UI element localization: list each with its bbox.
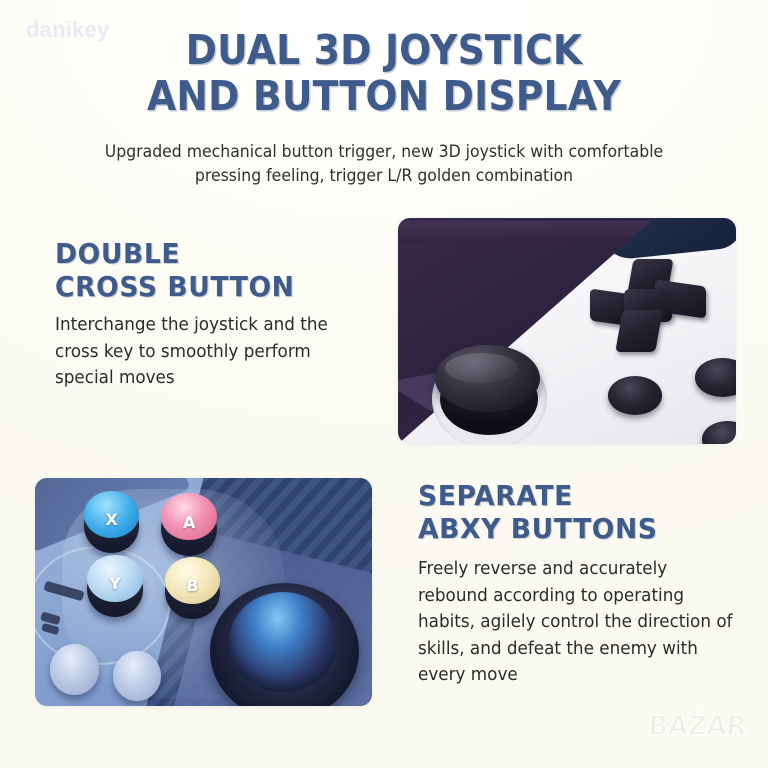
button-y-label: Y: [87, 556, 143, 611]
feature-body-separate-abxy-buttons: Freely reverse and accurately rebound ac…: [418, 556, 735, 689]
button-b: B: [165, 565, 221, 620]
feature-title-line-1: SEPARATE: [418, 479, 573, 512]
dpad-cross: [587, 259, 709, 358]
button-b-label: B: [165, 559, 221, 614]
joystick-cap: [435, 345, 540, 413]
bazar-logo-watermark: ^ BAZAR: [647, 711, 747, 742]
button-y: Y: [87, 562, 143, 617]
dpad-down: [615, 310, 663, 352]
page-title-line-2: AND BUTTON DISPLAY: [31, 73, 738, 119]
feature-title-separate-abxy-buttons: SEPARATE ABXY BUTTONS: [418, 480, 732, 546]
feature-body-double-cross-button: Interchange the joystick and the cross k…: [55, 312, 362, 392]
bazar-logo-hat: ^: [695, 702, 710, 722]
feature-title-line-1: DOUBLE: [55, 237, 180, 270]
feature-title-line-2: CROSS BUTTON: [55, 270, 294, 303]
page-title: DUAL 3D JOYSTICK AND BUTTON DISPLAY: [31, 27, 738, 120]
button-x: X: [84, 499, 140, 554]
button-x-label: X: [84, 492, 140, 547]
extra-button-1: [50, 644, 99, 694]
joystick-cap-blue: [229, 592, 337, 692]
photo-double-cross-button: [398, 218, 736, 444]
page-title-line-1: DUAL 3D JOYSTICK: [186, 26, 583, 74]
face-button-2: [695, 358, 736, 396]
button-a-label: A: [161, 495, 217, 550]
face-button-1: [608, 376, 662, 414]
photo-separate-abxy-buttons: X A Y B: [35, 478, 372, 706]
feature-title-double-cross-button: DOUBLE CROSS BUTTON: [55, 238, 369, 304]
promo-page: danikey DUAL 3D JOYSTICK AND BUTTON DISP…: [0, 0, 768, 768]
button-a: A: [161, 501, 217, 556]
page-subtitle: Upgraded mechanical button trigger, new …: [78, 140, 690, 188]
feature-title-line-2: ABXY BUTTONS: [418, 512, 658, 545]
